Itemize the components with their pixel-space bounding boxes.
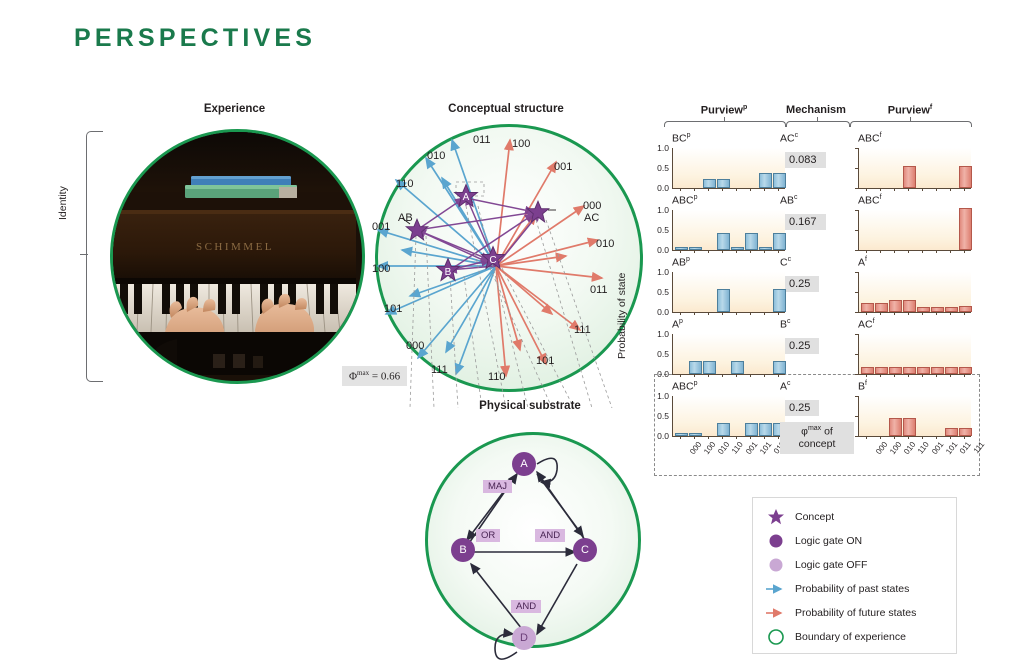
node-C-label: C (581, 544, 589, 556)
column-header-mechanism: Mechanism (776, 104, 856, 116)
bar-past-1-6 (759, 247, 772, 251)
bar-future-2-1 (875, 303, 888, 312)
chart-title-future-1: ABCf (858, 194, 882, 207)
bar-future-3-5 (931, 367, 944, 374)
xtick-past-4-2 (708, 436, 709, 439)
bar-past-2-7 (773, 289, 786, 312)
xtick-future-4-1 (880, 436, 881, 439)
xtick-past-3-4 (736, 374, 737, 377)
bar-past-1-5 (745, 233, 758, 250)
xtick-past-3-5 (750, 374, 751, 377)
xtick-past-1-1 (694, 250, 695, 253)
bar-past-1-7 (773, 233, 786, 250)
xtick-future-0-5 (936, 188, 937, 191)
ytick-label-3-0: 1.0 (649, 329, 669, 339)
xtick-future-1-1 (880, 250, 881, 253)
xtick-future-4-4 (922, 436, 923, 439)
xtick-future-0-1 (880, 188, 881, 191)
xtick-past-2-4 (736, 312, 737, 315)
xtick-future-3-5 (936, 374, 937, 377)
xtick-past-2-2 (708, 312, 709, 315)
light-circle-icon (765, 556, 787, 574)
xtick-past-4-5 (750, 436, 751, 439)
ytick-label-2-0: 1.0 (649, 267, 669, 277)
xtick-past-4-6 (764, 436, 765, 439)
bar-past-3-4 (731, 361, 744, 374)
xtick-future-1-6 (950, 250, 951, 253)
bar-past-0-3 (717, 179, 730, 188)
ytick-future-2-0 (855, 272, 858, 273)
ytick-label-3-1: 0.5 (649, 349, 669, 359)
chart-title-future-3: ACf (858, 318, 875, 331)
chart-plot-past-2 (672, 272, 785, 313)
phi-symbol: Φ (349, 371, 357, 383)
ytick-future-0-1 (855, 168, 858, 169)
bar-past-3-2 (703, 361, 716, 374)
bar-past-3-7 (773, 361, 786, 374)
legend-label-past: Probability of past states (795, 583, 909, 595)
physical-substrate-title: Physical substrate (425, 400, 635, 412)
brace-tick-past (724, 117, 725, 121)
column-header-purview-past: Purviewp (666, 104, 782, 117)
mechanism-title-2: Cc (780, 256, 791, 269)
chart-plot-future-3 (858, 334, 971, 375)
ytick-future-0-2 (855, 188, 858, 189)
bar-past-4-3 (717, 423, 730, 436)
ytick-label-4-0: 1.0 (649, 391, 669, 401)
bar-future-2-2 (889, 300, 902, 312)
bar-future-4-2 (889, 418, 902, 436)
probability-matrix: Probability of state Purviewp Mechanism … (630, 104, 982, 476)
legend: Concept Logic gate ON Logic gate OFF Pro… (752, 497, 957, 654)
blue-arrow-icon (765, 580, 787, 598)
ytick-future-3-2 (855, 374, 858, 375)
xtick-future-1-2 (894, 250, 895, 253)
concept-star-markers: A B C (330, 118, 630, 408)
gate-label-OR: OR (476, 529, 500, 542)
chart-plot-future-2 (858, 272, 971, 313)
xtick-past-0-1 (694, 188, 695, 191)
bar-future-2-7 (959, 306, 972, 312)
filled-circle-icon (765, 532, 787, 550)
bar-past-1-3 (717, 233, 730, 250)
xtick-past-3-3 (722, 374, 723, 377)
star-label-AC: AC (584, 212, 599, 224)
bar-future-3-2 (889, 367, 902, 374)
xtick-past-2-0 (680, 312, 681, 315)
node-A-label: A (520, 458, 527, 470)
xtick-past-4-7 (778, 436, 779, 439)
xtick-future-4-7 (964, 436, 965, 439)
xtick-future-4-0 (866, 436, 867, 439)
ytick-future-2-2 (855, 312, 858, 313)
ytick-future-2-1 (855, 292, 858, 293)
bar-future-2-6 (945, 307, 958, 312)
xtick-past-2-3 (722, 312, 723, 315)
bar-past-4-6 (759, 423, 772, 436)
xtick-past-1-7 (778, 250, 779, 253)
xtick-future-4-5 (936, 436, 937, 439)
star-label-AB: AB (398, 212, 413, 224)
chart-plot-past-0 (672, 148, 785, 189)
identity-label: Identity (57, 186, 69, 220)
ytick-future-3-0 (855, 334, 858, 335)
xtick-future-1-5 (936, 250, 937, 253)
bar-future-2-4 (917, 307, 930, 312)
identity-bracket-tick (80, 254, 88, 255)
chart-plot-future-4 (858, 396, 971, 437)
svg-text:B: B (445, 267, 452, 278)
xtick-past-0-2 (708, 188, 709, 191)
node-A[interactable]: A (512, 452, 536, 476)
xtick-past-0-3 (722, 188, 723, 191)
xtick-future-4-3 (908, 436, 909, 439)
mechanism-title-0: ACc (780, 132, 798, 145)
brace-mechanism (786, 121, 850, 127)
xtick-past-3-2 (708, 374, 709, 377)
bar-future-0-3 (903, 166, 916, 188)
bar-past-0-6 (759, 173, 772, 188)
chart-title-past-1: ABCp (672, 194, 698, 207)
chart-plot-future-0 (858, 148, 971, 189)
ytick-label-4-2: 0.0 (649, 431, 669, 441)
xtick-past-1-6 (764, 250, 765, 253)
xtick-future-2-3 (908, 312, 909, 315)
xtick-past-0-7 (778, 188, 779, 191)
matrix-y-axis-label: Probability of state (616, 273, 628, 359)
chart-title-future-4: Bf (858, 380, 867, 393)
xtick-future-2-2 (894, 312, 895, 315)
xtick-past-0-6 (764, 188, 765, 191)
bar-future-4-7 (959, 428, 972, 436)
xtick-future-2-5 (936, 312, 937, 315)
bar-future-3-6 (945, 367, 958, 374)
bar-past-3-1 (689, 361, 702, 374)
chart-title-past-0: BCp (672, 132, 691, 145)
legend-item-concept: Concept (765, 506, 834, 528)
identity-bracket (86, 131, 103, 382)
mechanism-value-2: 0.25 (780, 276, 819, 292)
xtick-future-1-0 (866, 250, 867, 253)
xtick-future-2-1 (880, 312, 881, 315)
brace-tick-mech (817, 117, 818, 121)
conceptual-structure-title: Conceptual structure (375, 103, 637, 115)
ytick-future-4-1 (855, 416, 858, 417)
xtick-future-0-6 (950, 188, 951, 191)
red-arrow-icon (765, 604, 787, 622)
mechanism-title-1: ABc (780, 194, 798, 207)
bar-future-4-3 (903, 418, 916, 436)
bar-future-2-5 (931, 307, 944, 312)
legend-label-future: Probability of future states (795, 607, 916, 619)
ytick-label-2-1: 0.5 (649, 287, 669, 297)
bar-future-0-7 (959, 166, 972, 188)
bar-past-4-0 (675, 433, 688, 437)
legend-item-gate-on: Logic gate ON (765, 530, 862, 552)
ytick-label-0-0: 1.0 (649, 143, 669, 153)
experience-panel-title: Experience (110, 103, 359, 115)
xtick-future-0-7 (964, 188, 965, 191)
ytick-future-1-2 (855, 250, 858, 251)
xtick-past-4-1 (694, 436, 695, 439)
legend-label-boundary: Boundary of experience (795, 631, 906, 643)
xtick-past-1-0 (680, 250, 681, 253)
legend-label-concept: Concept (795, 511, 834, 523)
xtick-future-0-2 (894, 188, 895, 191)
brace-purview-future (850, 121, 972, 127)
bar-future-3-7 (959, 367, 972, 374)
ytick-future-1-0 (855, 210, 858, 211)
xtick-past-1-4 (736, 250, 737, 253)
xtick-future-2-4 (922, 312, 923, 315)
bar-past-4-1 (689, 433, 702, 437)
mechanism-value-0: 0.083 (780, 152, 826, 168)
chart-title-past-4: ABCp (672, 380, 698, 393)
xtick-past-0-4 (736, 188, 737, 191)
bar-past-1-4 (731, 247, 744, 251)
node-D-label: D (520, 632, 528, 644)
bar-future-3-0 (861, 367, 874, 374)
svg-text:A: A (463, 192, 470, 203)
xtick-future-1-7 (964, 250, 965, 253)
xtick-future-2-7 (964, 312, 965, 315)
xtick-past-2-5 (750, 312, 751, 315)
ytick-future-1-1 (855, 230, 858, 231)
xtick-past-3-1 (694, 374, 695, 377)
xtick-past-1-5 (750, 250, 751, 253)
legend-item-boundary: Boundary of experience (765, 626, 906, 648)
legend-item-gate-off: Logic gate OFF (765, 554, 867, 576)
gate-label-AND-2: AND (511, 600, 541, 613)
mechanism-title-3: Bc (780, 318, 791, 331)
chart-title-past-2: ABp (672, 256, 690, 269)
ytick-label-2-2: 0.0 (649, 307, 669, 317)
ytick-label-1-0: 1.0 (649, 205, 669, 215)
xtick-past-3-0 (680, 374, 681, 377)
xtick-future-2-6 (950, 312, 951, 315)
ytick-label-1-2: 0.0 (649, 245, 669, 255)
xtick-future-0-4 (922, 188, 923, 191)
legend-item-past: Probability of past states (765, 578, 909, 600)
phi-max-badge: Φmax = 0.66 (342, 366, 407, 386)
bar-past-0-7 (773, 173, 786, 188)
xtick-past-4-3 (722, 436, 723, 439)
brace-purview-past (664, 121, 786, 127)
svg-text:C: C (489, 255, 496, 266)
bar-past-0-2 (703, 179, 716, 188)
xtick-past-2-1 (694, 312, 695, 315)
xtick-past-1-2 (708, 250, 709, 253)
node-B[interactable]: B (451, 538, 475, 562)
mechanism-value-4: 0.25 (780, 400, 819, 416)
xtick-past-3-6 (764, 374, 765, 377)
column-header-purview-future: Purviewf (852, 104, 968, 117)
chart-plot-future-1 (858, 210, 971, 251)
gate-label-AND-1: AND (535, 529, 565, 542)
xtick-future-1-4 (922, 250, 923, 253)
phi-value: = 0.66 (369, 371, 400, 383)
bar-future-1-7 (959, 208, 972, 250)
xtick-past-3-7 (778, 374, 779, 377)
chart-plot-past-1 (672, 210, 785, 251)
brace-tick-future (910, 117, 911, 121)
mechanism-title-4: Ac (780, 380, 791, 393)
xtick-past-2-6 (764, 312, 765, 315)
chart-plot-past-4 (672, 396, 785, 437)
bar-future-4-6 (945, 428, 958, 436)
page-title: PERSPECTIVES (74, 24, 316, 53)
chart-plot-past-3 (672, 334, 785, 375)
bar-past-1-0 (675, 247, 688, 251)
legend-label-gate-off: Logic gate OFF (795, 559, 867, 571)
xtick-future-3-0 (866, 374, 867, 377)
bar-future-3-3 (903, 367, 916, 374)
xtick-future-3-1 (880, 374, 881, 377)
legend-item-future: Probability of future states (765, 602, 916, 624)
bar-future-3-4 (917, 367, 930, 374)
ytick-label-1-1: 0.5 (649, 225, 669, 235)
bar-past-4-5 (745, 423, 758, 436)
xtick-past-0-5 (750, 188, 751, 191)
phi-sup: max (357, 369, 369, 377)
green-circle-outline-icon (765, 628, 787, 646)
bar-future-2-0 (861, 303, 874, 312)
node-C[interactable]: C (573, 538, 597, 562)
star-icon (765, 508, 787, 526)
node-D[interactable]: D (512, 626, 536, 650)
xtick-future-0-0 (866, 188, 867, 191)
xtick-future-1-3 (908, 250, 909, 253)
xtick-future-3-6 (950, 374, 951, 377)
xtick-future-3-2 (894, 374, 895, 377)
mechanism-value-3: 0.25 (780, 338, 819, 354)
xtick-past-2-7 (778, 312, 779, 315)
ytick-label-3-2: 0.0 (649, 369, 669, 379)
mechanism-value-1: 0.167 (780, 214, 826, 230)
xtick-past-0-0 (680, 188, 681, 191)
ytick-label-4-1: 0.5 (649, 411, 669, 421)
xtick-future-3-4 (922, 374, 923, 377)
ytick-future-4-0 (855, 396, 858, 397)
xtick-past-4-4 (736, 436, 737, 439)
xtick-future-4-6 (950, 436, 951, 439)
bar-future-2-3 (903, 300, 916, 312)
ytick-future-3-1 (855, 354, 858, 355)
experience-photo: SCHIMMEL (110, 129, 365, 384)
ytick-future-4-2 (855, 436, 858, 437)
xtick-future-4-2 (894, 436, 895, 439)
xtick-future-3-7 (964, 374, 965, 377)
ytick-future-0-0 (855, 148, 858, 149)
xtick-future-3-3 (908, 374, 909, 377)
xtick-future-0-3 (908, 188, 909, 191)
phi-of-concept-label: φmax of concept (780, 422, 854, 454)
xtick-past-1-3 (722, 250, 723, 253)
bar-past-2-3 (717, 289, 730, 312)
legend-label-gate-on: Logic gate ON (795, 535, 862, 547)
gate-label-MAJ: MAJ (483, 480, 512, 493)
chart-title-future-0: ABCf (858, 132, 882, 145)
ytick-label-0-1: 0.5 (649, 163, 669, 173)
svg-text:SCHIMMEL: SCHIMMEL (196, 241, 274, 253)
xtick-future-2-0 (866, 312, 867, 315)
ytick-label-0-2: 0.0 (649, 183, 669, 193)
xtick-past-4-0 (680, 436, 681, 439)
chart-title-past-3: Ap (672, 318, 683, 331)
chart-title-future-2: Af (858, 256, 867, 269)
bar-past-1-1 (689, 247, 702, 251)
bar-future-3-1 (875, 367, 888, 374)
node-B-label: B (459, 544, 466, 556)
